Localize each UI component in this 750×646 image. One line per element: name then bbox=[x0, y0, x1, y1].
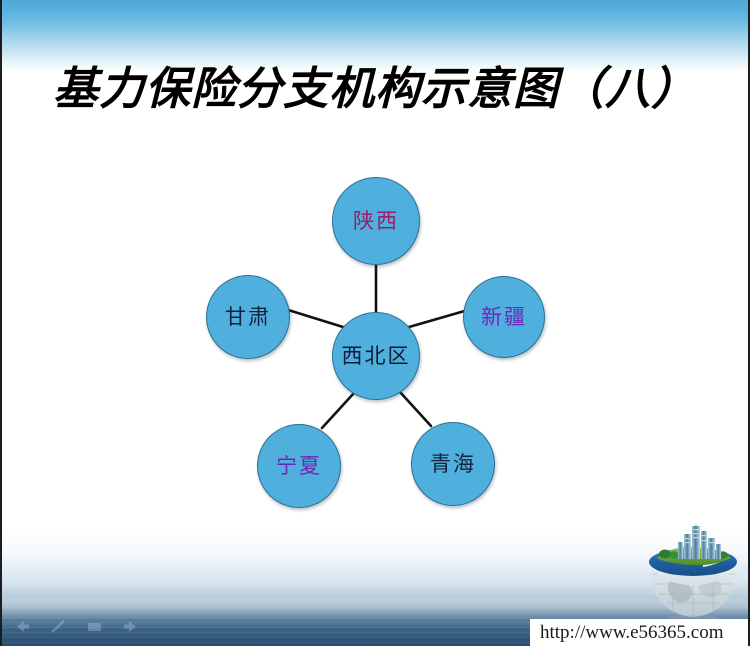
earth-city-globe-logo bbox=[641, 524, 745, 620]
watermark-url: http://www.e56365.com bbox=[530, 622, 723, 644]
diagram-node-qinghai[interactable]: 青海 bbox=[411, 422, 495, 506]
edge-center-ningxia bbox=[322, 393, 354, 428]
diagram-node-center-northwest-region[interactable]: 西北区 bbox=[332, 312, 420, 400]
diagram-node-label: 青海 bbox=[430, 454, 476, 475]
diagram-node-label: 西北区 bbox=[342, 346, 411, 367]
diagram-node-label: 新疆 bbox=[481, 307, 527, 328]
presentation-slide: 基力保险分支机构示意图（八） 陕西 甘肃 新疆 西北区 bbox=[0, 0, 750, 646]
diagram-node-shaanxi[interactable]: 陕西 bbox=[332, 177, 420, 265]
diagram-node-label: 陕西 bbox=[353, 211, 399, 232]
watermark-url-band: http://www.e56365.com bbox=[530, 619, 750, 646]
diagram-node-ningxia[interactable]: 宁夏 bbox=[257, 424, 341, 508]
diagram-node-label: 甘肃 bbox=[225, 307, 271, 328]
diagram-node-label: 宁夏 bbox=[276, 456, 322, 477]
edge-center-qinghai bbox=[400, 392, 431, 426]
diagram-node-xinjiang[interactable]: 新疆 bbox=[463, 276, 545, 358]
diagram-node-gansu[interactable]: 甘肃 bbox=[206, 275, 290, 359]
edge-center-gansu bbox=[285, 309, 343, 327]
edge-center-xinjiang bbox=[409, 310, 468, 327]
page-title: 基力保险分支机构示意图（八） bbox=[0, 63, 750, 115]
